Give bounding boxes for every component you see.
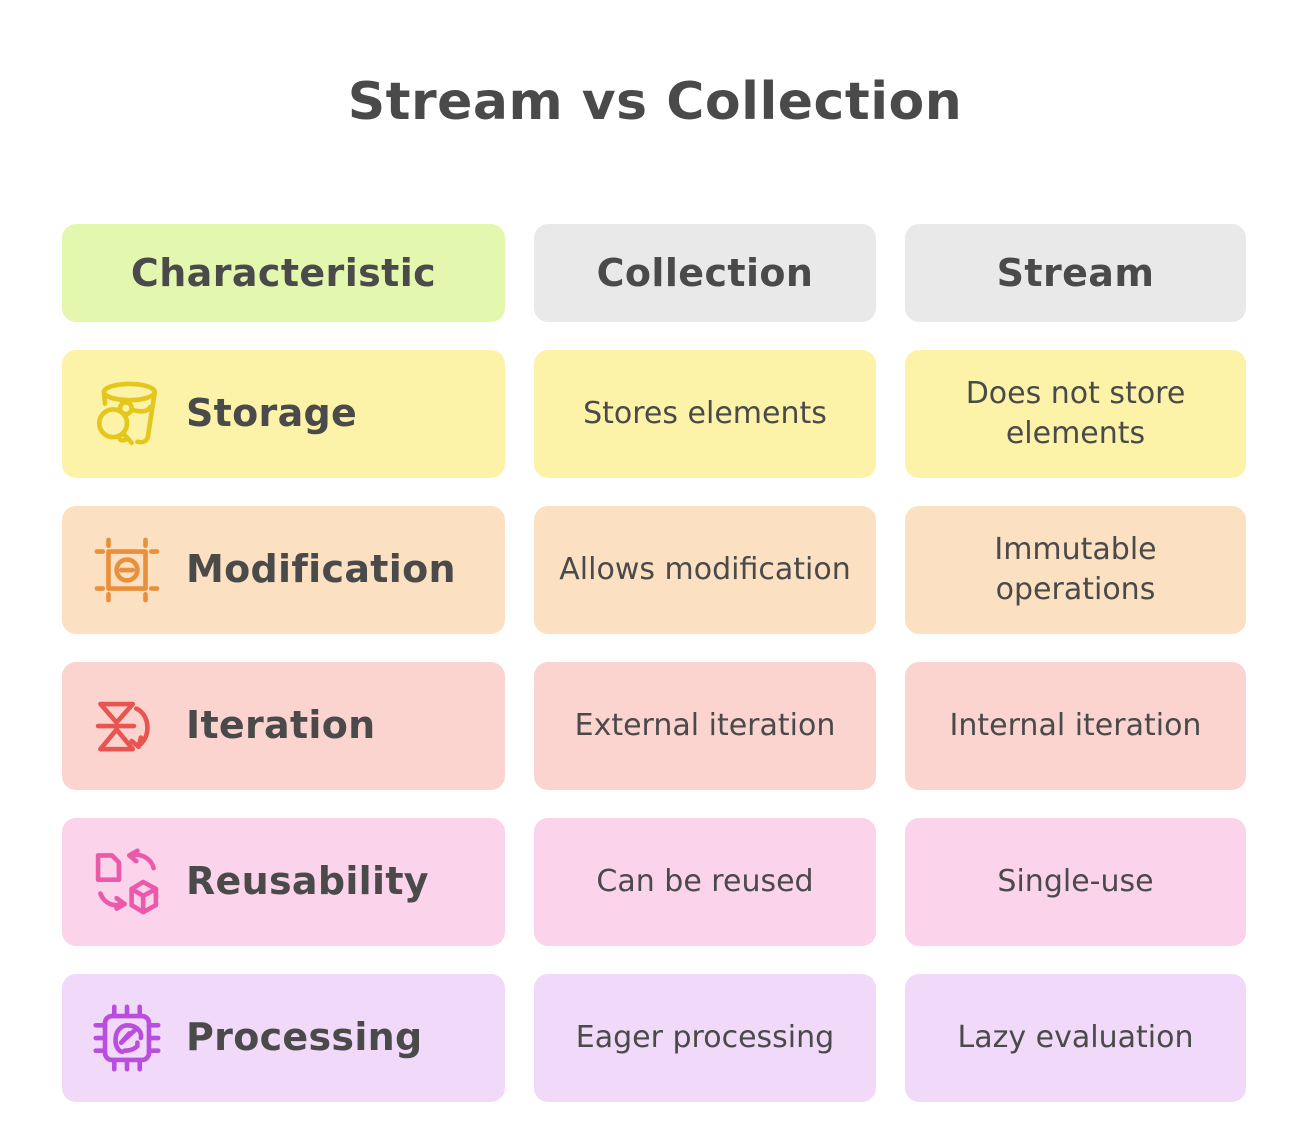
comparison-table: Characteristic Collection Stream Storage… bbox=[62, 224, 1246, 1102]
characteristic-label: Processing bbox=[186, 1018, 423, 1058]
collection-value: Can be reused bbox=[534, 818, 876, 946]
stream-value: Immutable operations bbox=[905, 506, 1246, 634]
collection-value: External iteration bbox=[534, 662, 876, 790]
collection-value: Eager processing bbox=[534, 974, 876, 1102]
collection-value: Allows modification bbox=[534, 506, 876, 634]
document-cube-recycle-icon bbox=[90, 845, 164, 919]
table-row: Processing bbox=[62, 974, 505, 1102]
cpu-chip-speed-icon bbox=[90, 1001, 164, 1075]
stream-value: Single-use bbox=[905, 818, 1246, 946]
storage-bucket-search-icon bbox=[90, 377, 164, 451]
crop-frame-minus-icon bbox=[90, 533, 164, 607]
table-row: Storage bbox=[62, 350, 505, 478]
table-row: Modification bbox=[62, 506, 505, 634]
stream-value: Internal iteration bbox=[905, 662, 1246, 790]
characteristic-label: Modification bbox=[186, 550, 456, 590]
loop-triangles-arrow-icon bbox=[90, 689, 164, 763]
table-header-stream: Stream bbox=[905, 224, 1246, 322]
page-title: Stream vs Collection bbox=[0, 72, 1310, 132]
table-row: Reusability bbox=[62, 818, 505, 946]
characteristic-label: Reusability bbox=[186, 862, 429, 902]
table-row: Iteration bbox=[62, 662, 505, 790]
stream-value: Lazy evaluation bbox=[905, 974, 1246, 1102]
characteristic-label: Storage bbox=[186, 394, 357, 434]
characteristic-label: Iteration bbox=[186, 706, 376, 746]
stream-value: Does not store elements bbox=[905, 350, 1246, 478]
infographic-page: Stream vs Collection Characteristic Coll… bbox=[0, 0, 1310, 1122]
table-header-characteristic: Characteristic bbox=[62, 224, 505, 322]
table-header-collection: Collection bbox=[534, 224, 876, 322]
collection-value: Stores elements bbox=[534, 350, 876, 478]
